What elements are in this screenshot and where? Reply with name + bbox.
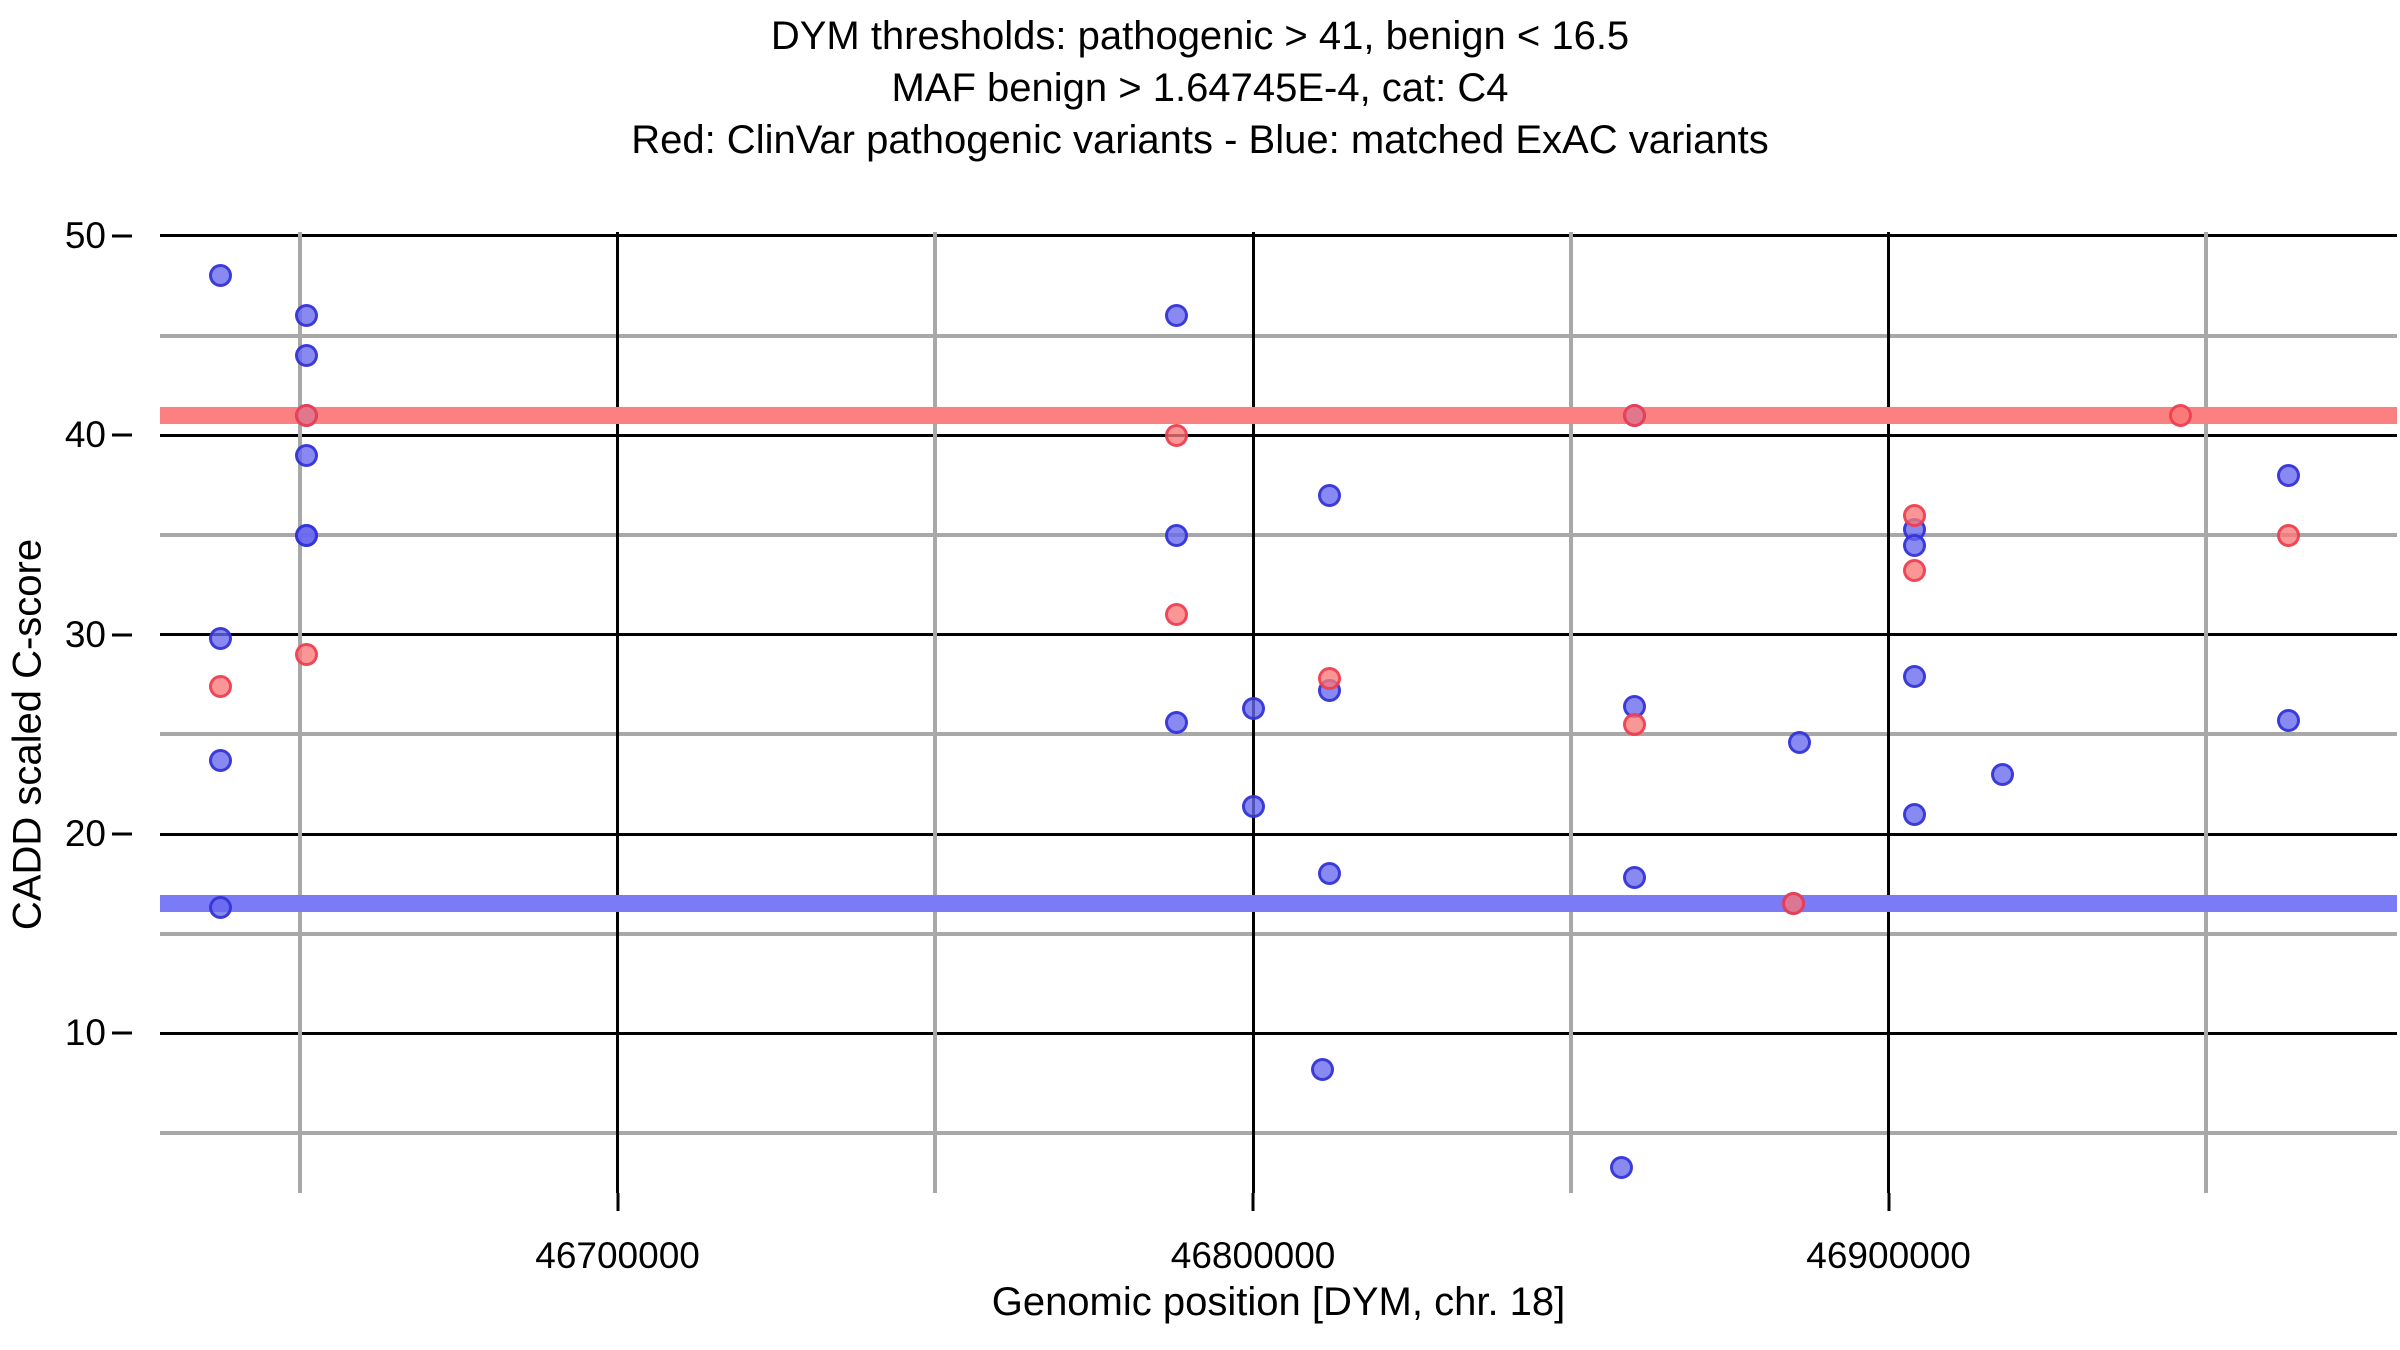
data-point-red (2277, 524, 2300, 547)
gridline-minor-y (160, 932, 2397, 936)
data-point-blue (1903, 803, 1926, 826)
data-point-red (1318, 667, 1341, 690)
data-point-red (1782, 892, 1805, 915)
gridline-minor-x (1569, 232, 1573, 1193)
gridline-minor-y (160, 1131, 2397, 1135)
y-axis-title: CADD scaled C-score (6, 355, 51, 1115)
y-tick-mark (112, 434, 132, 437)
gridline-minor-y (160, 533, 2397, 537)
y-tick-label: 50 (65, 215, 106, 257)
pathogenic-threshold-band (160, 407, 2397, 424)
x-axis: 467000004680000046900000 (160, 1193, 2397, 1283)
x-tick-mark (1252, 1193, 1255, 1211)
data-point-blue (295, 444, 318, 467)
data-point-red (295, 404, 318, 427)
chart-title: DYM thresholds: pathogenic > 41, benign … (0, 10, 2400, 166)
title-line-1: DYM thresholds: pathogenic > 41, benign … (0, 10, 2400, 62)
data-point-blue (295, 304, 318, 327)
data-point-blue (1165, 524, 1188, 547)
data-point-red (295, 643, 318, 666)
data-point-blue (1242, 795, 1265, 818)
plot-background (160, 232, 2397, 1193)
data-point-red (209, 675, 232, 698)
y-tick-mark (112, 833, 132, 836)
y-tick-mark (112, 234, 132, 237)
gridline-minor-x (2204, 232, 2208, 1193)
gridline-minor-y (160, 334, 2397, 338)
gridline-major-y (160, 234, 2397, 237)
data-point-blue (209, 749, 232, 772)
y-tick-mark (112, 633, 132, 636)
data-point-red (1903, 504, 1926, 527)
data-point-blue (1242, 697, 1265, 720)
data-point-red (1903, 559, 1926, 582)
y-tick-label: 20 (65, 813, 106, 855)
benign-threshold-band (160, 895, 2397, 912)
gridline-major-x (1887, 232, 1890, 1193)
data-point-blue (1903, 534, 1926, 557)
gridline-major-y (160, 833, 2397, 836)
plot-area (160, 232, 2397, 1193)
y-tick-label: 40 (65, 414, 106, 456)
gridline-major-x (616, 232, 619, 1193)
x-tick-mark (1887, 1193, 1890, 1211)
data-point-blue (1318, 484, 1341, 507)
data-point-red (1623, 713, 1646, 736)
gridline-major-y (160, 434, 2397, 437)
data-point-blue (1788, 731, 1811, 754)
data-point-blue (295, 344, 318, 367)
gridline-minor-x (298, 232, 302, 1193)
gridline-major-y (160, 1032, 2397, 1035)
title-line-3: Red: ClinVar pathogenic variants - Blue:… (0, 114, 2400, 166)
data-point-blue (1610, 1156, 1633, 1179)
x-tick-label: 46800000 (1171, 1235, 1336, 1277)
gridline-minor-y (160, 732, 2397, 736)
title-line-2: MAF benign > 1.64745E-4, cat: C4 (0, 62, 2400, 114)
y-tick-mark (112, 1032, 132, 1035)
x-tick-mark (616, 1193, 619, 1211)
data-point-blue (209, 627, 232, 650)
y-tick-label: 10 (65, 1012, 106, 1054)
scatter-plot-figure: DYM thresholds: pathogenic > 41, benign … (0, 0, 2400, 1350)
x-axis-title: Genomic position [DYM, chr. 18] (160, 1280, 2397, 1325)
data-point-red (1623, 404, 1646, 427)
data-point-blue (1903, 665, 1926, 688)
gridline-major-y (160, 633, 2397, 636)
x-tick-label: 46900000 (1806, 1235, 1971, 1277)
x-tick-label: 46700000 (535, 1235, 700, 1277)
gridline-minor-x (933, 232, 937, 1193)
y-tick-label: 30 (65, 614, 106, 656)
data-point-blue (295, 524, 318, 547)
